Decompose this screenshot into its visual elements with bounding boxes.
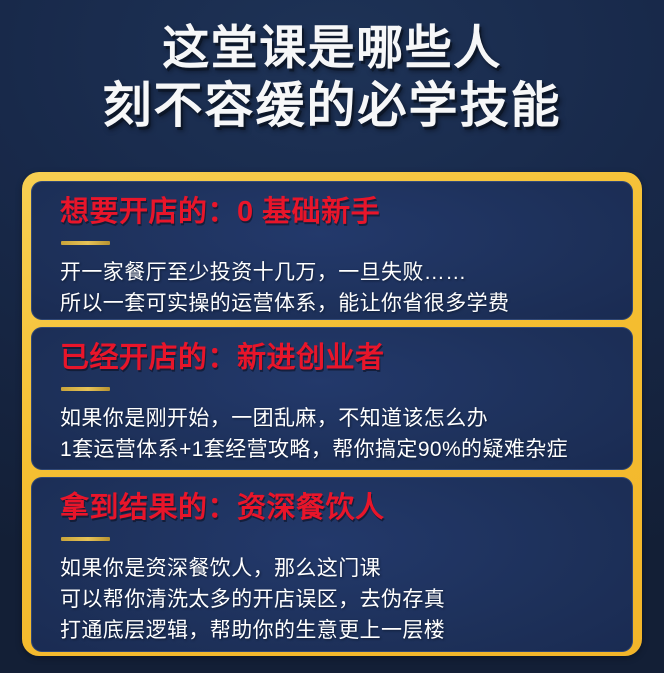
card-heading: 已经开店的：新进创业者 [60, 340, 633, 376]
card-heading: 想要开店的：0 基础新手 [60, 194, 633, 230]
card-body-line: 1套运营体系+1套经营攻略，帮你搞定90%的疑难杂症 [60, 434, 633, 465]
card-body: 开一家餐厅至少投资十几万，一旦失败…… 所以一套可实操的运营体系，能让你省很多学… [60, 257, 633, 319]
headline-line-2: 刻不容缓的必学技能 [0, 77, 664, 136]
heading-divider [61, 241, 110, 245]
card-body-line: 所以一套可实操的运营体系，能让你省很多学费 [60, 288, 633, 319]
headline-line-1: 这堂课是哪些人 [0, 18, 664, 77]
audience-card-new-owner: 已经开店的：新进创业者 如果你是刚开始，一团乱麻，不知道该怎么办 1套运营体系+… [31, 327, 633, 470]
card-body-line: 如果你是刚开始，一团乱麻，不知道该怎么办 [60, 403, 633, 434]
heading-divider [61, 537, 110, 541]
card-body-line: 如果你是资深餐饮人，那么这门课 [60, 553, 633, 584]
audience-card-veteran: 拿到结果的：资深餐饮人 如果你是资深餐饮人，那么这门课 可以帮你清洗太多的开店误… [31, 477, 633, 652]
audience-card-beginner: 想要开店的：0 基础新手 开一家餐厅至少投资十几万，一旦失败…… 所以一套可实操… [31, 181, 633, 320]
card-body-line: 开一家餐厅至少投资十几万，一旦失败…… [60, 257, 633, 288]
card-heading: 拿到结果的：资深餐饮人 [60, 490, 633, 526]
heading-divider [61, 387, 110, 391]
gold-panel: 想要开店的：0 基础新手 开一家餐厅至少投资十几万，一旦失败…… 所以一套可实操… [22, 172, 642, 656]
poster-root: 这堂课是哪些人 刻不容缓的必学技能 想要开店的：0 基础新手 开一家餐厅至少投资… [0, 0, 664, 673]
card-body: 如果你是资深餐饮人，那么这门课 可以帮你清洗太多的开店误区，去伪存真 打通底层逻… [60, 553, 633, 646]
page-title: 这堂课是哪些人 刻不容缓的必学技能 [0, 18, 664, 136]
card-stack: 想要开店的：0 基础新手 开一家餐厅至少投资十几万，一旦失败…… 所以一套可实操… [31, 181, 633, 647]
card-body-line: 可以帮你清洗太多的开店误区，去伪存真 [60, 584, 633, 615]
card-body: 如果你是刚开始，一团乱麻，不知道该怎么办 1套运营体系+1套经营攻略，帮你搞定9… [60, 403, 633, 465]
card-body-line: 打通底层逻辑，帮助你的生意更上一层楼 [60, 615, 633, 646]
